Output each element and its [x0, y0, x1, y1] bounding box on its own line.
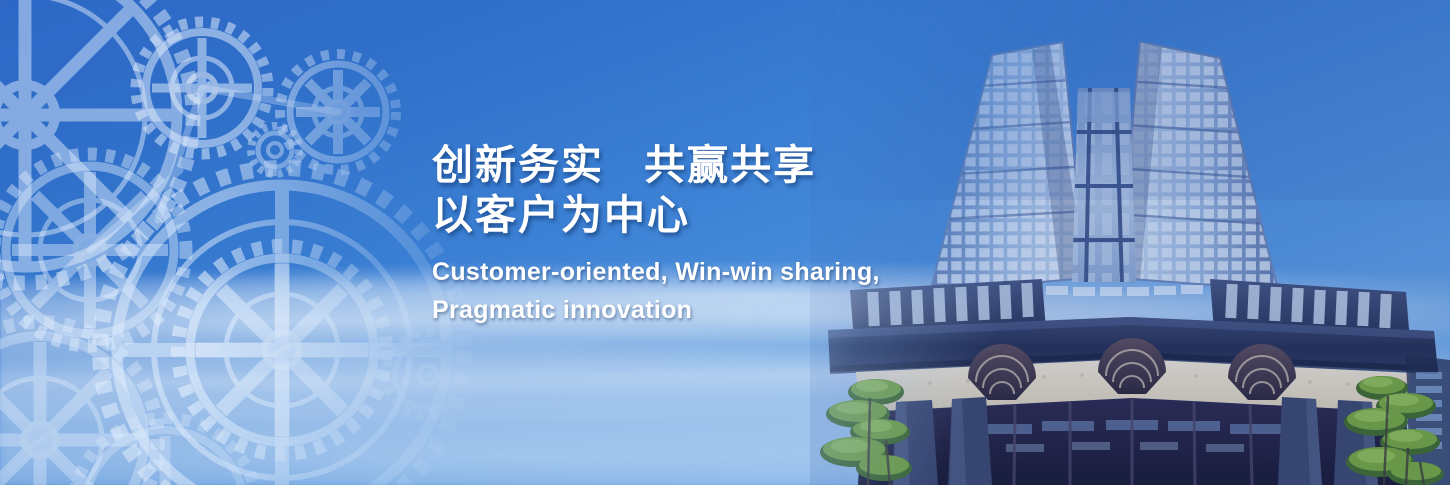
subheadline-line-1: Customer-oriented, Win-win sharing, — [432, 253, 1072, 291]
hero-banner: 创新务实 共赢共享 以客户为中心 Customer-oriented, Win-… — [0, 0, 1450, 485]
subheadline: Customer-oriented, Win-win sharing, Prag… — [432, 253, 1072, 329]
headline-line-2: 以客户为中心 — [432, 190, 1072, 240]
subheadline-line-2: Pragmatic innovation — [432, 291, 1072, 329]
banner-copy: 创新务实 共赢共享 以客户为中心 Customer-oriented, Win-… — [432, 140, 1072, 329]
headline-line-1: 创新务实 共赢共享 — [432, 140, 1072, 190]
